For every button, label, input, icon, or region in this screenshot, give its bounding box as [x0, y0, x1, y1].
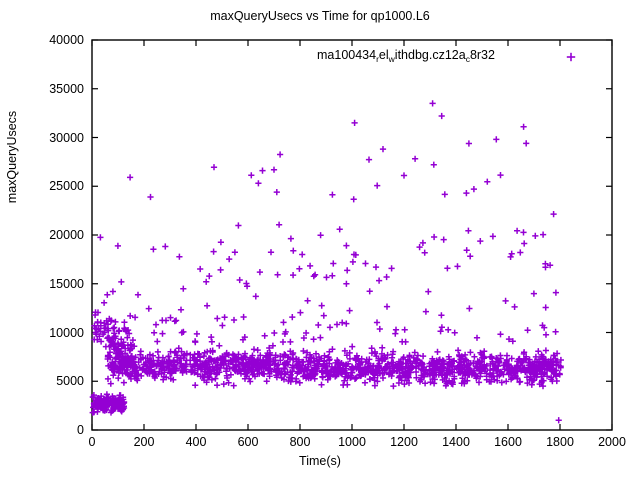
- chart-canvas: [0, 0, 640, 480]
- scatter-points: [90, 100, 564, 423]
- chart-plot-root: maxQueryUsecs vs Time for qp1000.L6 maxQ…: [0, 0, 640, 480]
- legend-key-marker: [567, 53, 575, 61]
